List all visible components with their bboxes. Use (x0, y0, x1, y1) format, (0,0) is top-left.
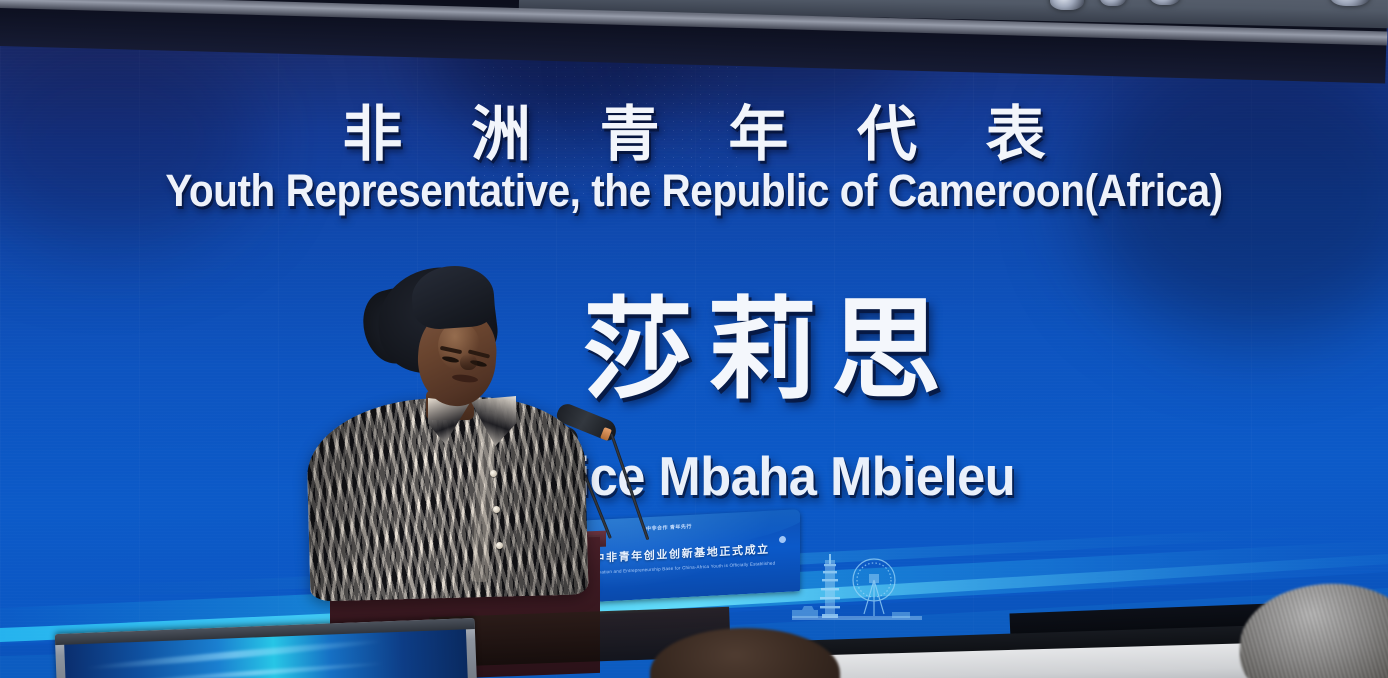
blouse-button (490, 470, 497, 477)
stage-photo: 非 洲 青 年 代 表 Youth Representative, the Re… (0, 0, 1388, 678)
blouse-button (493, 506, 500, 513)
backdrop-chinese-name: 莎莉思 (583, 296, 955, 406)
blouse-button (496, 542, 503, 549)
speaker-nose (460, 354, 477, 370)
microphone-gooseneck (610, 434, 649, 541)
skyline-baseline (792, 616, 922, 620)
skyline-svg (792, 550, 922, 620)
city-skyline-graphic (792, 550, 922, 620)
ferris-wheel-icon (853, 559, 895, 616)
backdrop-english-title: Youth Representative, the Republic of Ca… (69, 165, 1318, 217)
pagoda-tower-icon (820, 554, 840, 618)
speaker-figure (300, 262, 600, 592)
backdrop-chinese-title: 非 洲 青 年 代 表 (0, 86, 1388, 173)
